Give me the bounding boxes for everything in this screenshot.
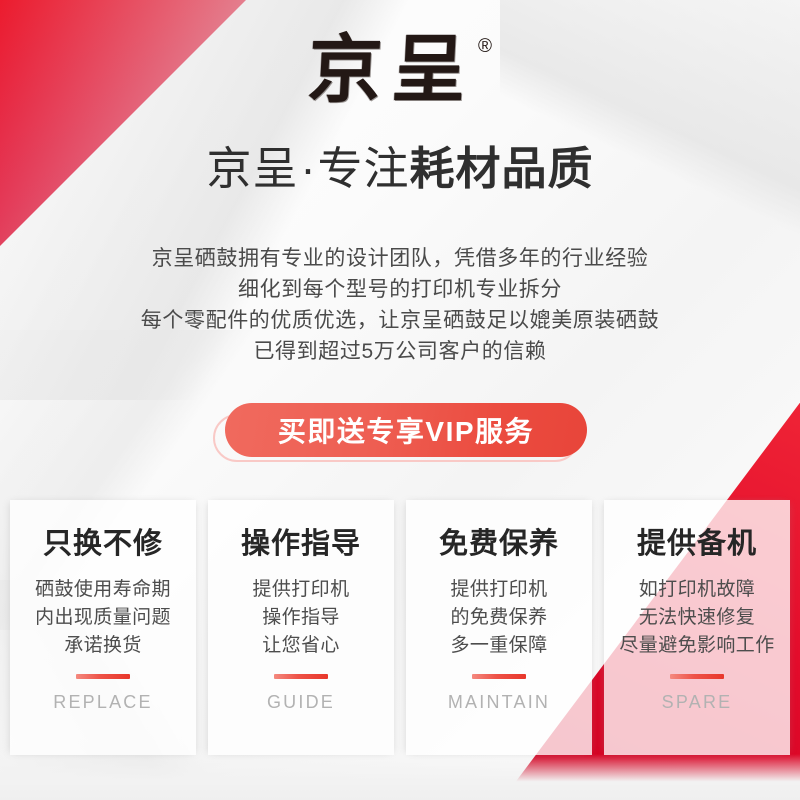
feature-card-desc-line: 多一重保障 [450, 632, 547, 660]
logo-mark: 京呈 ® [308, 33, 492, 107]
description-line: 细化到每个型号的打印机专业拆分 [0, 274, 800, 305]
vip-promo-label: 买即送专享VIP服务 [278, 410, 534, 450]
feature-card-title: 免费保养 [439, 530, 559, 559]
headline-bold-part: 耗材品质 [410, 143, 594, 194]
feature-card-english-label: SPARE [662, 692, 733, 713]
feature-card-replace[interactable]: 只换不修 硒鼓使用寿命期 内出现质量问题 承诺换货 REPLACE [10, 500, 196, 755]
feature-card-guide[interactable]: 操作指导 提供打印机 操作指导 让您省心 GUIDE [208, 500, 394, 755]
feature-card-desc-line: 内出现质量问题 [35, 604, 171, 632]
feature-card-description: 硒鼓使用寿命期 内出现质量问题 承诺换货 [35, 576, 171, 660]
feature-card-english-label: REPLACE [53, 692, 152, 713]
promo-banner: 京呈 ® 京呈·专注耗材品质 京呈硒鼓拥有专业的设计团队，凭借多年的行业经验 细… [0, 0, 800, 800]
page-title: 京呈·专注耗材品质 [0, 140, 800, 198]
description-line: 京呈硒鼓拥有专业的设计团队，凭借多年的行业经验 [0, 243, 800, 274]
feature-card-description: 提供打印机 的免费保养 多一重保障 [450, 576, 547, 660]
feature-card-title: 提供备机 [637, 530, 757, 559]
feature-card-desc-line: 硒鼓使用寿命期 [35, 576, 171, 604]
promo-pill-stack: 买即送专享VIP服务 [213, 403, 587, 465]
feature-card-english-label: GUIDE [267, 692, 335, 713]
headline-brand: 京呈 [206, 143, 298, 194]
feature-card-desc-line: 操作指导 [252, 604, 349, 632]
feature-card-divider [76, 674, 130, 679]
feature-card-english-label: MAINTAIN [448, 692, 550, 713]
feature-card-title: 操作指导 [241, 530, 361, 559]
feature-card-maintain[interactable]: 免费保养 提供打印机 的免费保养 多一重保障 MAINTAIN [406, 500, 592, 755]
bottom-gradient-strip [0, 754, 800, 800]
feature-card-desc-line: 提供打印机 [450, 576, 547, 604]
logo-wordmark: 京呈 [306, 33, 478, 107]
headline-light-part: 专注 [317, 143, 409, 194]
feature-card-divider [472, 674, 526, 679]
feature-card-desc-line: 无法快速修复 [619, 604, 774, 632]
feature-card-desc-line: 承诺换货 [35, 632, 171, 660]
feature-card-list: 只换不修 硒鼓使用寿命期 内出现质量问题 承诺换货 REPLACE 操作指导 提… [10, 500, 790, 755]
feature-card-spare[interactable]: 提供备机 如打印机故障 无法快速修复 尽量避免影响工作 SPARE [604, 500, 790, 755]
registered-trademark-icon: ® [478, 37, 492, 56]
feature-card-divider [670, 674, 724, 679]
promo-banner-pill-container: 买即送专享VIP服务 [0, 403, 800, 473]
brand-logo: 京呈 ® [0, 16, 800, 124]
feature-card-desc-line: 的免费保养 [450, 604, 547, 632]
feature-card-desc-line: 提供打印机 [252, 576, 349, 604]
feature-card-title: 只换不修 [43, 530, 163, 559]
feature-card-desc-line: 尽量避免影响工作 [619, 632, 774, 660]
feature-card-divider [274, 674, 328, 679]
headline-separator: · [298, 143, 317, 194]
feature-card-desc-line: 让您省心 [252, 632, 349, 660]
vip-promo-button[interactable]: 买即送专享VIP服务 [225, 403, 587, 457]
feature-card-desc-line: 如打印机故障 [619, 576, 774, 604]
feature-card-description: 如打印机故障 无法快速修复 尽量避免影响工作 [619, 576, 774, 660]
description-paragraph: 京呈硒鼓拥有专业的设计团队，凭借多年的行业经验 细化到每个型号的打印机专业拆分 … [0, 243, 800, 367]
description-line: 已得到超过5万公司客户的信赖 [0, 336, 800, 367]
description-line: 每个零配件的优质优选，让京呈硒鼓足以媲美原装硒鼓 [0, 305, 800, 336]
feature-card-description: 提供打印机 操作指导 让您省心 [252, 576, 349, 660]
